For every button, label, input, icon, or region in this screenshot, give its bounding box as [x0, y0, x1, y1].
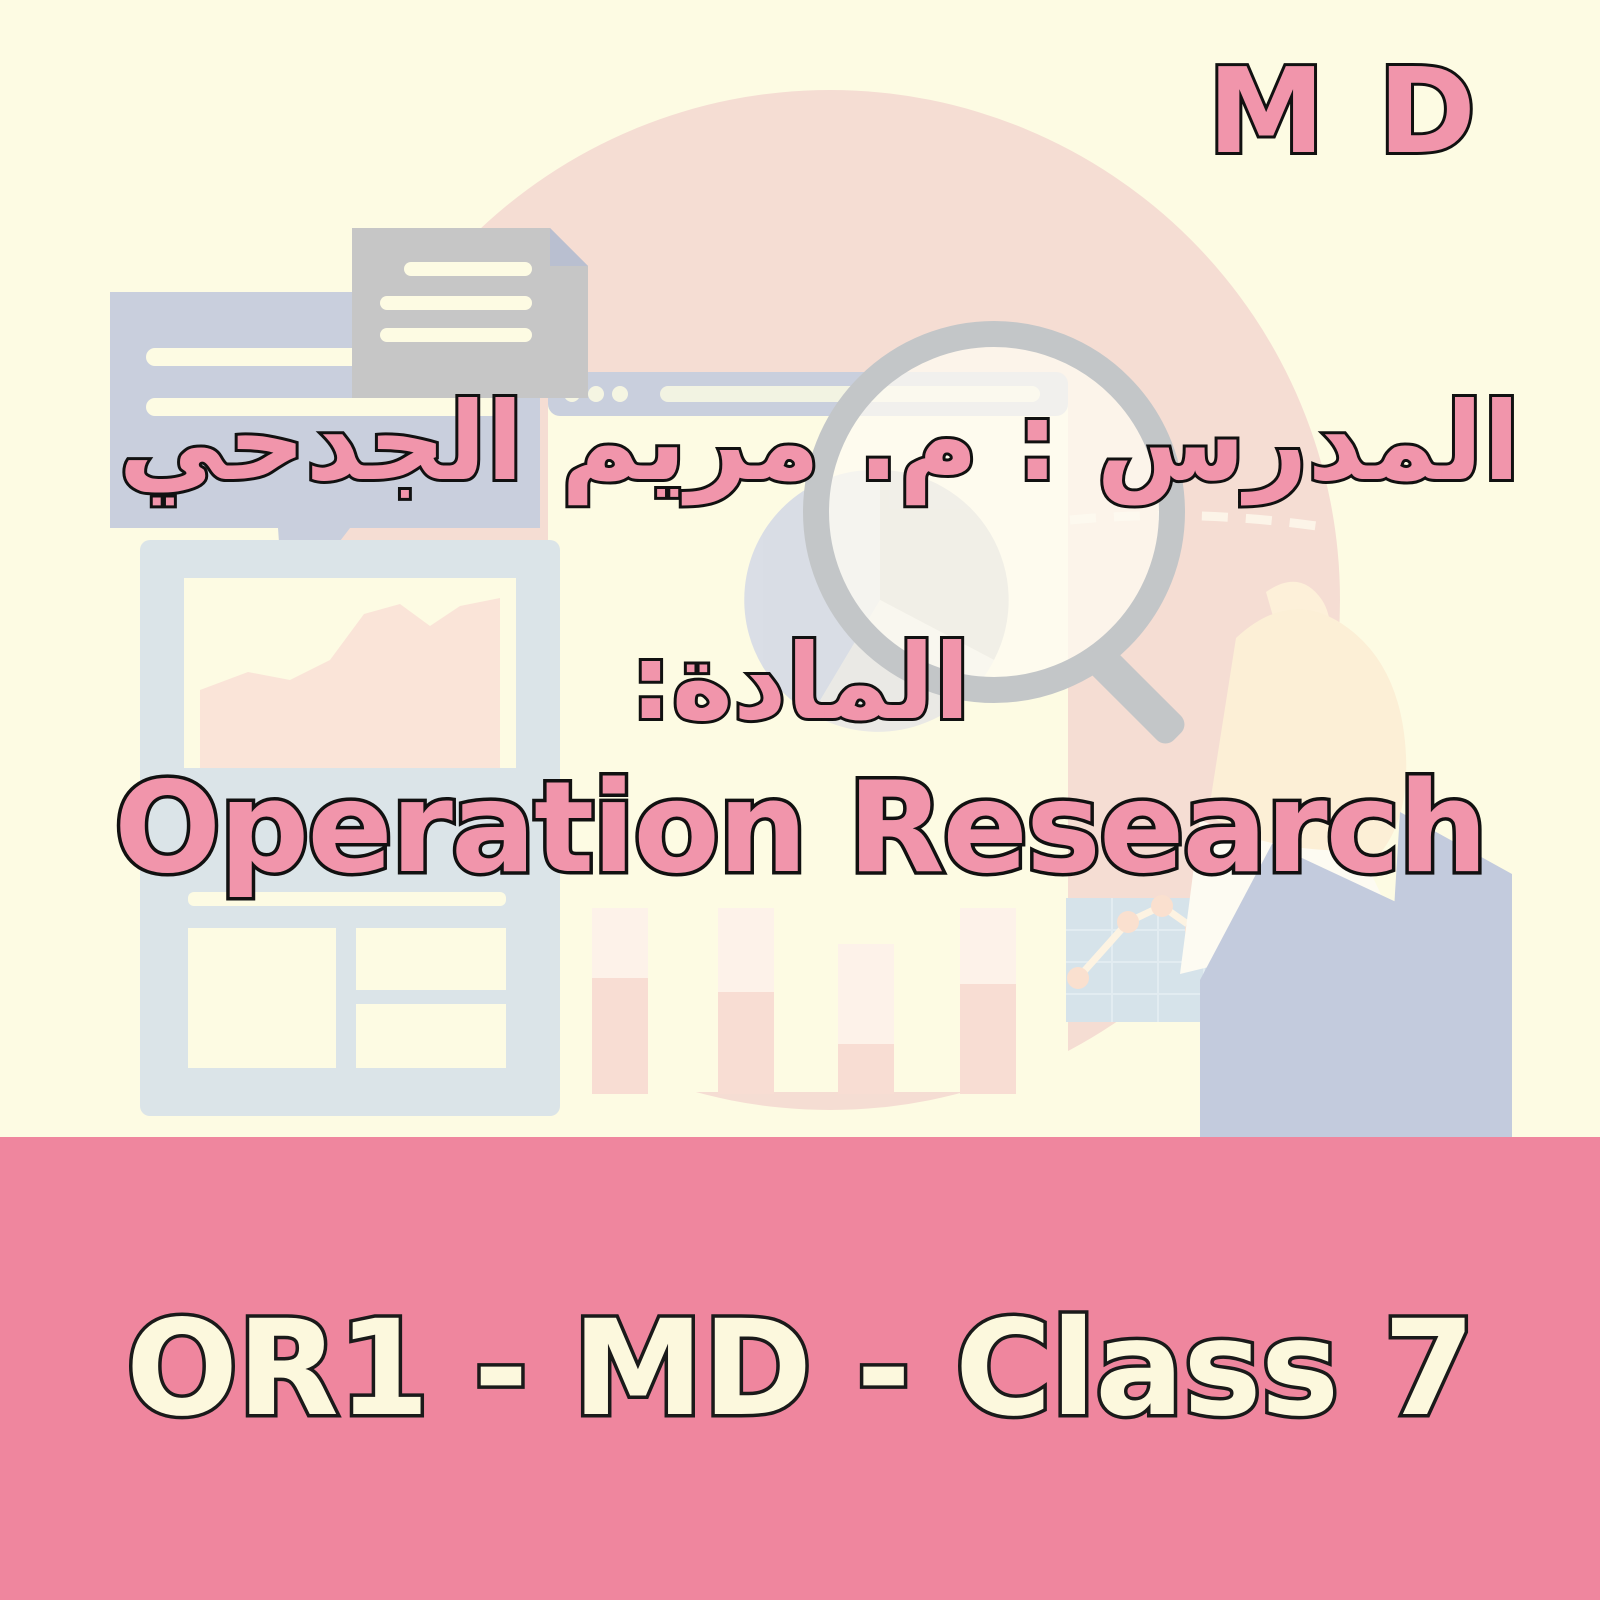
subject-value: Operation Research [0, 762, 1600, 894]
md-badge: M D [1208, 52, 1482, 170]
poster-canvas: OR1 - MD - Class 7 M D المدرس : م. مريم … [0, 0, 1600, 1600]
text-overlay: M D المدرس : م. مريم الجدحي المادة: Oper… [0, 0, 1600, 1600]
teacher-line: المدرس : م. مريم الجدحي [0, 383, 1520, 504]
subject-label: المادة: [0, 625, 1600, 739]
